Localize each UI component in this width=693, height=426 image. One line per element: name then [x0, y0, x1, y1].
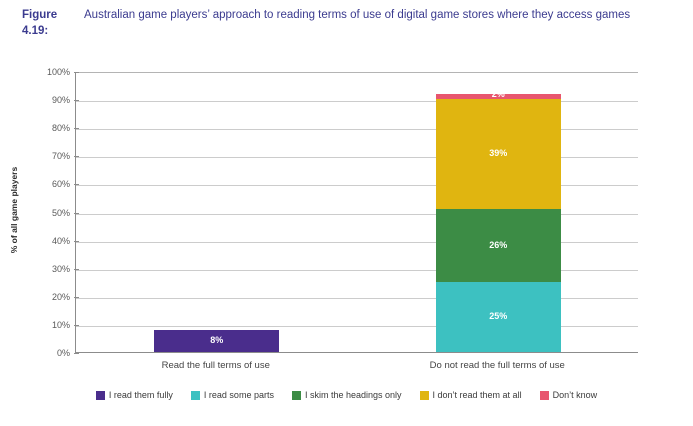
x-axis-category-label: Read the full terms of use [106, 360, 326, 371]
legend-item[interactable]: I don’t read them at all [420, 390, 522, 400]
y-axis-tick-label: 100% [36, 67, 70, 77]
figure-title: Figure 4.19:Australian game players’ app… [22, 7, 662, 39]
legend-color-swatch [96, 391, 105, 400]
y-axis-tick-mark [74, 156, 79, 157]
y-axis-tick-mark [74, 325, 79, 326]
bar-segment-label: 8% [210, 336, 223, 345]
x-axis-category-label: Do not read the full terms of use [387, 360, 607, 371]
y-axis-tick-mark [74, 269, 79, 270]
y-axis-tick-label: 90% [36, 95, 70, 105]
y-axis-tick-mark [74, 100, 79, 101]
y-axis-tick-mark [74, 72, 79, 73]
legend-item[interactable]: Don’t know [540, 390, 598, 400]
y-axis-tick-mark [74, 128, 79, 129]
y-axis-tick-label: 50% [36, 208, 70, 218]
y-axis-tick-label: 0% [36, 348, 70, 358]
legend-item[interactable]: I skim the headings only [292, 390, 402, 400]
y-axis-tick-label: 60% [36, 179, 70, 189]
figure-number: Figure 4.19: [22, 7, 84, 39]
bar-segment[interactable]: 39% [436, 99, 561, 209]
legend-item-label: I skim the headings only [305, 390, 402, 400]
y-axis-tick-label: 20% [36, 292, 70, 302]
bar-column[interactable]: 8% [154, 71, 279, 352]
plot-area: 8%25%26%39%2% [75, 72, 638, 353]
y-axis-tick-mark [74, 297, 79, 298]
y-axis-tick-mark [74, 241, 79, 242]
y-axis-tick-mark [74, 213, 79, 214]
y-axis-tick-mark [74, 184, 79, 185]
y-axis-title: % of all game players [9, 155, 19, 265]
bar-segment-label: 39% [489, 149, 507, 158]
bar-segment[interactable]: 25% [436, 282, 561, 352]
legend-color-swatch [191, 391, 200, 400]
figure-title-text: Australian game players’ approach to rea… [84, 7, 654, 23]
bar-column[interactable]: 25%26%39%2% [436, 71, 561, 352]
bar-segment-label: 2% [436, 90, 561, 99]
legend-color-swatch [420, 391, 429, 400]
bar-segment-label: 25% [489, 312, 507, 321]
legend-item[interactable]: I read them fully [96, 390, 173, 400]
bar-segment[interactable]: 8% [154, 330, 279, 352]
y-axis-tick-label: 80% [36, 123, 70, 133]
bar-segment-label: 26% [489, 241, 507, 250]
legend-item-label: Don’t know [553, 390, 598, 400]
y-axis-tick-label: 40% [36, 236, 70, 246]
legend-item-label: I don’t read them at all [433, 390, 522, 400]
y-axis-tick-label: 10% [36, 320, 70, 330]
y-axis-tick-mark [74, 353, 79, 354]
bar-segment[interactable]: 2% [436, 94, 561, 100]
chart-legend: I read them fullyI read some partsI skim… [0, 390, 693, 400]
legend-item-label: I read them fully [109, 390, 173, 400]
y-axis-tick-labels: 0%10%20%30%40%50%60%70%80%90%100% [34, 72, 70, 353]
legend-color-swatch [292, 391, 301, 400]
y-axis-tick-label: 70% [36, 151, 70, 161]
legend-color-swatch [540, 391, 549, 400]
y-axis-tick-label: 30% [36, 264, 70, 274]
bar-segment[interactable]: 26% [436, 209, 561, 282]
legend-item[interactable]: I read some parts [191, 390, 274, 400]
legend-item-label: I read some parts [204, 390, 274, 400]
